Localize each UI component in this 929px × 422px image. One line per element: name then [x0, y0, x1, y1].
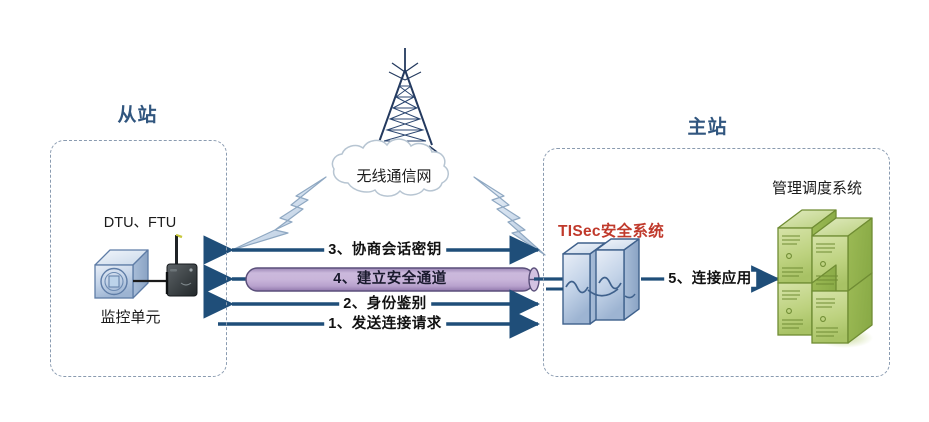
flow-label-1: 1、发送连接请求: [324, 317, 446, 332]
radio-tower-icon: [373, 48, 437, 170]
tisec-security-label: TISec安全系统: [558, 219, 664, 241]
management-system-label: 管理调度系统: [752, 177, 882, 198]
lightning-bolt-icon-right: [474, 177, 545, 255]
monitor-unit-label: 监控单元: [78, 306, 183, 327]
flow-label-3: 3、协商会话密钥: [324, 243, 446, 258]
slave-station-title: 从站: [90, 100, 185, 127]
lightning-bolt-icon-left: [232, 177, 326, 250]
diagram-canvas: 从站 主站 无线通信网 DTU、FTU 监控单元 TISec安全系统 管理调度系…: [0, 0, 929, 422]
cloud-label: 无线通信网: [344, 165, 444, 186]
flow-label-5: 5、连接应用: [664, 272, 756, 287]
flow-label-2: 2、身份鉴别: [339, 297, 431, 312]
dtu-ftu-label: DTU、FTU: [85, 211, 195, 232]
master-station-title: 主站: [660, 112, 755, 139]
slave-station-box: [50, 140, 227, 377]
flow-label-4: 4、建立安全通道: [329, 272, 451, 287]
